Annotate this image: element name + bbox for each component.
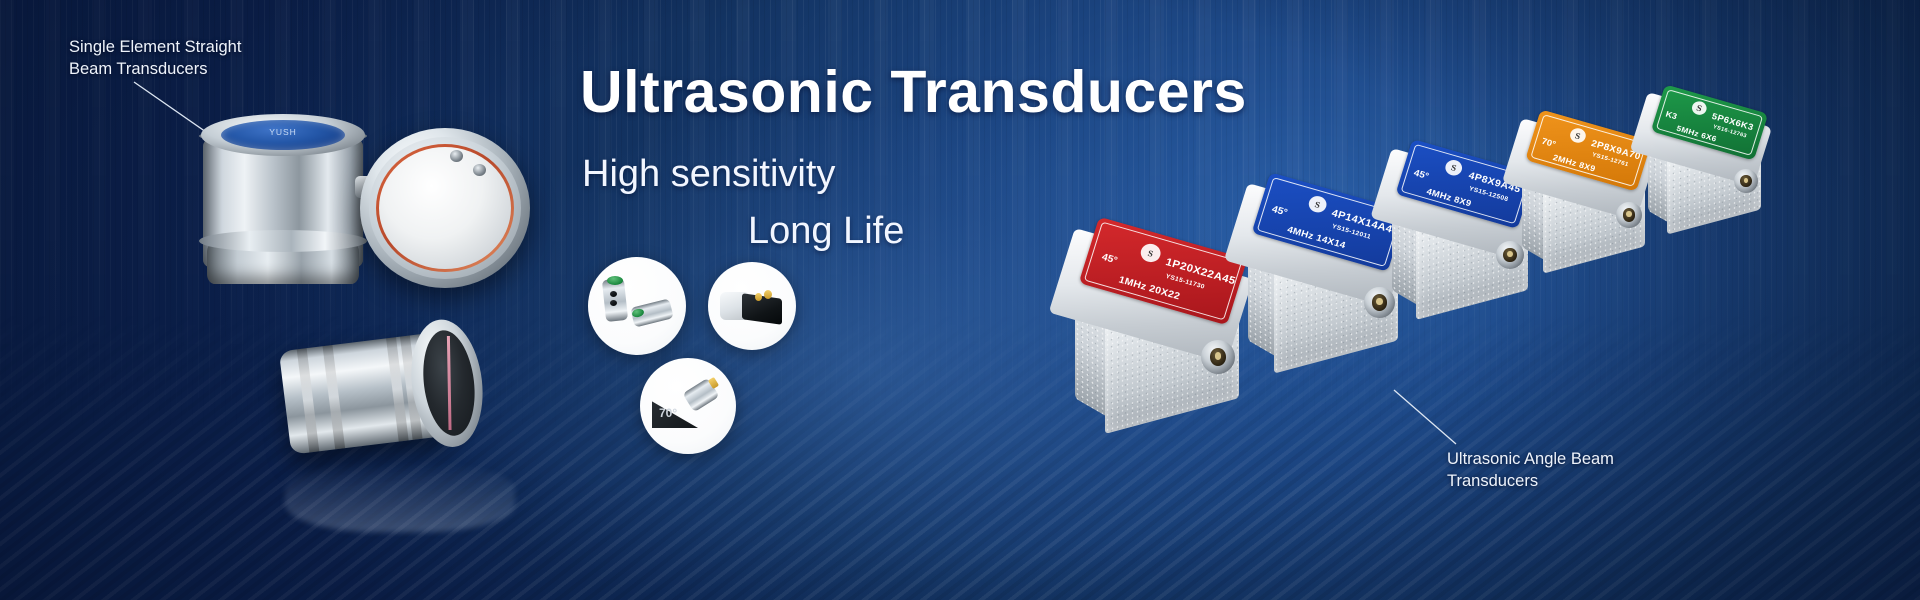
probe-ring-lower: [199, 230, 367, 252]
probe-screw: [473, 164, 486, 176]
probe-connector[interactable]: [1734, 169, 1758, 193]
subtitle-line-1: High sensitivity: [582, 153, 835, 196]
probe-face-text: YUSH: [221, 127, 345, 137]
callout-label-straight-beam: Single Element Straight Beam Transducers: [69, 36, 241, 80]
thumbnail-angle-wedge-probe[interactable]: 70°: [640, 358, 736, 454]
mini-socket: [610, 291, 617, 297]
probe-connector[interactable]: [1201, 340, 1235, 374]
probe-wear-plate: [379, 147, 511, 269]
probe-connector[interactable]: [1616, 202, 1642, 228]
wedge-angle-label: 70°: [659, 406, 677, 420]
page-title: Ultrasonic Transducers: [580, 58, 1247, 126]
mini-socket: [610, 300, 617, 306]
straight-beam-probe-barrel: [277, 307, 509, 482]
straight-beam-probe-disc: [360, 128, 535, 303]
thumbnail-black-wedge-probe[interactable]: [708, 262, 796, 350]
probe-connector[interactable]: [1496, 241, 1524, 269]
probe-connector[interactable]: [1364, 287, 1395, 318]
probe-screw: [450, 150, 463, 162]
mini-black-probe: [742, 293, 782, 325]
thumbnail-miniature-probes[interactable]: [588, 257, 686, 355]
mini-connector: [755, 293, 762, 301]
angle-beam-probe-green[interactable]: 5P6X6K3 YS16-12763 K3 5MHz 6X6: [1648, 92, 1803, 247]
mini-connector: [764, 290, 772, 299]
subtitle-line-2: Long Life: [748, 210, 904, 253]
promotional-banner: Ultrasonic Transducers High sensitivity …: [0, 0, 1920, 600]
callout-label-angle-beam: Ultrasonic Angle Beam Transducers: [1447, 448, 1614, 492]
mini-green-face: [607, 276, 623, 285]
probe-face-label: YUSH: [221, 120, 345, 150]
straight-beam-probe-cylinder: YUSH: [195, 110, 375, 290]
